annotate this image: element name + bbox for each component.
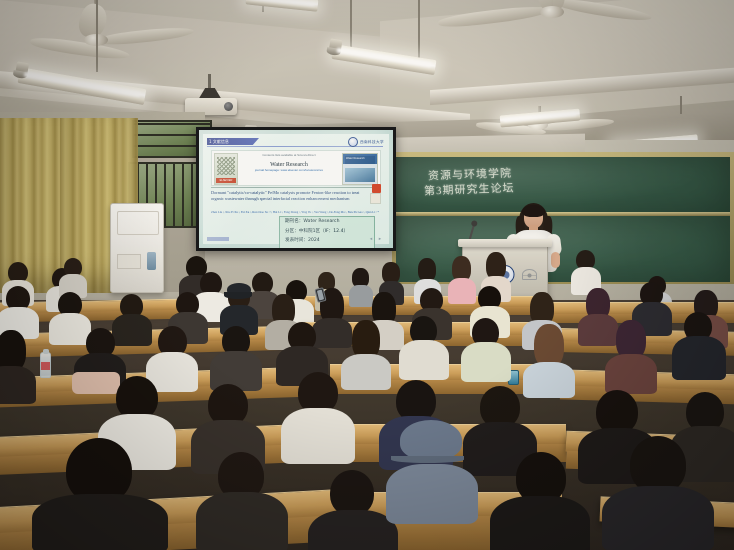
paper-authors: Zhen Liu ᵃ, Xin-Yi Xu ᵃ, Fei Xu ᵃ, Rui-C…	[211, 210, 381, 214]
jacket-on-desk	[72, 372, 120, 394]
light-wire	[680, 96, 682, 114]
sciencedirect-line: Contents lists available at ScienceDirec…	[238, 153, 340, 157]
journal-header-card: ELSEVIER Contents lists available at Sci…	[211, 150, 381, 186]
paper-title: Dormant "catalytic/co-catalytic" Fe/Mo c…	[211, 190, 367, 201]
blackboard-lower	[396, 216, 730, 282]
baseball-cap	[400, 420, 462, 460]
journal-thumb-art	[217, 157, 235, 175]
projection-screen: 1 文献信息 西南科技大学 ELSEVIER Contents lists av…	[196, 127, 396, 251]
ac-control-panel[interactable]	[117, 254, 141, 269]
lectern-wordmark-icon	[522, 269, 537, 280]
journal-cover-thumbnail: ELSEVIER	[214, 153, 238, 185]
university-name: 西南科技大学	[360, 140, 384, 145]
projected-slide: 1 文献信息 西南科技大学 ELSEVIER Contents lists av…	[199, 130, 393, 248]
paper-title-block: Dormant "catalytic/co-catalytic" Fe/Mo c…	[211, 190, 367, 201]
slide-divider	[211, 187, 381, 188]
info-quartile: 分区：中科院1区（IF：12.4）	[280, 227, 374, 237]
slide-footer-bar	[207, 237, 229, 241]
slide-nav-arrows-icon[interactable]: ◄ ►	[369, 236, 384, 241]
lecture-hall-photo: 资源与环境学院 第3期研究生论坛 1 文献信息 西南科技大学 ELSEVIER	[0, 0, 734, 550]
lectern-top	[458, 239, 552, 247]
baseball-cap	[227, 283, 251, 296]
document-icon	[370, 193, 381, 204]
air-conditioner[interactable]	[110, 203, 164, 293]
journal-homepage-line: journal homepage: www.elsevier.com/locat…	[238, 168, 340, 172]
light-wire	[418, 0, 420, 58]
slide-section-label: 1 文献信息	[209, 138, 259, 145]
university-seal-icon	[348, 137, 358, 147]
presenter-fringe	[522, 205, 545, 217]
projector-mount-stem	[208, 74, 211, 90]
light-wire	[96, 0, 98, 72]
slide-surface: 1 文献信息 西南科技大学 ELSEVIER Contents lists av…	[203, 134, 389, 244]
publisher-label: ELSEVIER	[216, 178, 236, 183]
paper-info-box: 期刊名：Water Research 分区：中科院1区（IF：12.4） 发表时…	[279, 216, 375, 248]
pdf-icon	[372, 184, 381, 193]
presenter-arm-right	[551, 252, 560, 268]
ceiling-fan	[430, 0, 610, 50]
university-logo: 西南科技大学	[348, 137, 384, 147]
projector-lens	[224, 102, 233, 111]
journal-issue-cover: Water Research	[342, 153, 378, 185]
info-date: 发表时间：2024	[280, 236, 374, 246]
info-journal: 期刊名：Water Research	[280, 217, 374, 227]
ceiling-fan	[40, 0, 190, 64]
ac-display-icon	[147, 252, 156, 270]
cover-band-text: Water Research	[346, 157, 365, 160]
blackboard-text-line2: 第3期研究生论坛	[424, 179, 515, 198]
water-bottle[interactable]	[40, 352, 51, 378]
journal-masthead: Contents lists available at ScienceDirec…	[238, 153, 340, 183]
cover-artwork	[345, 168, 375, 182]
ac-grill	[117, 211, 159, 235]
